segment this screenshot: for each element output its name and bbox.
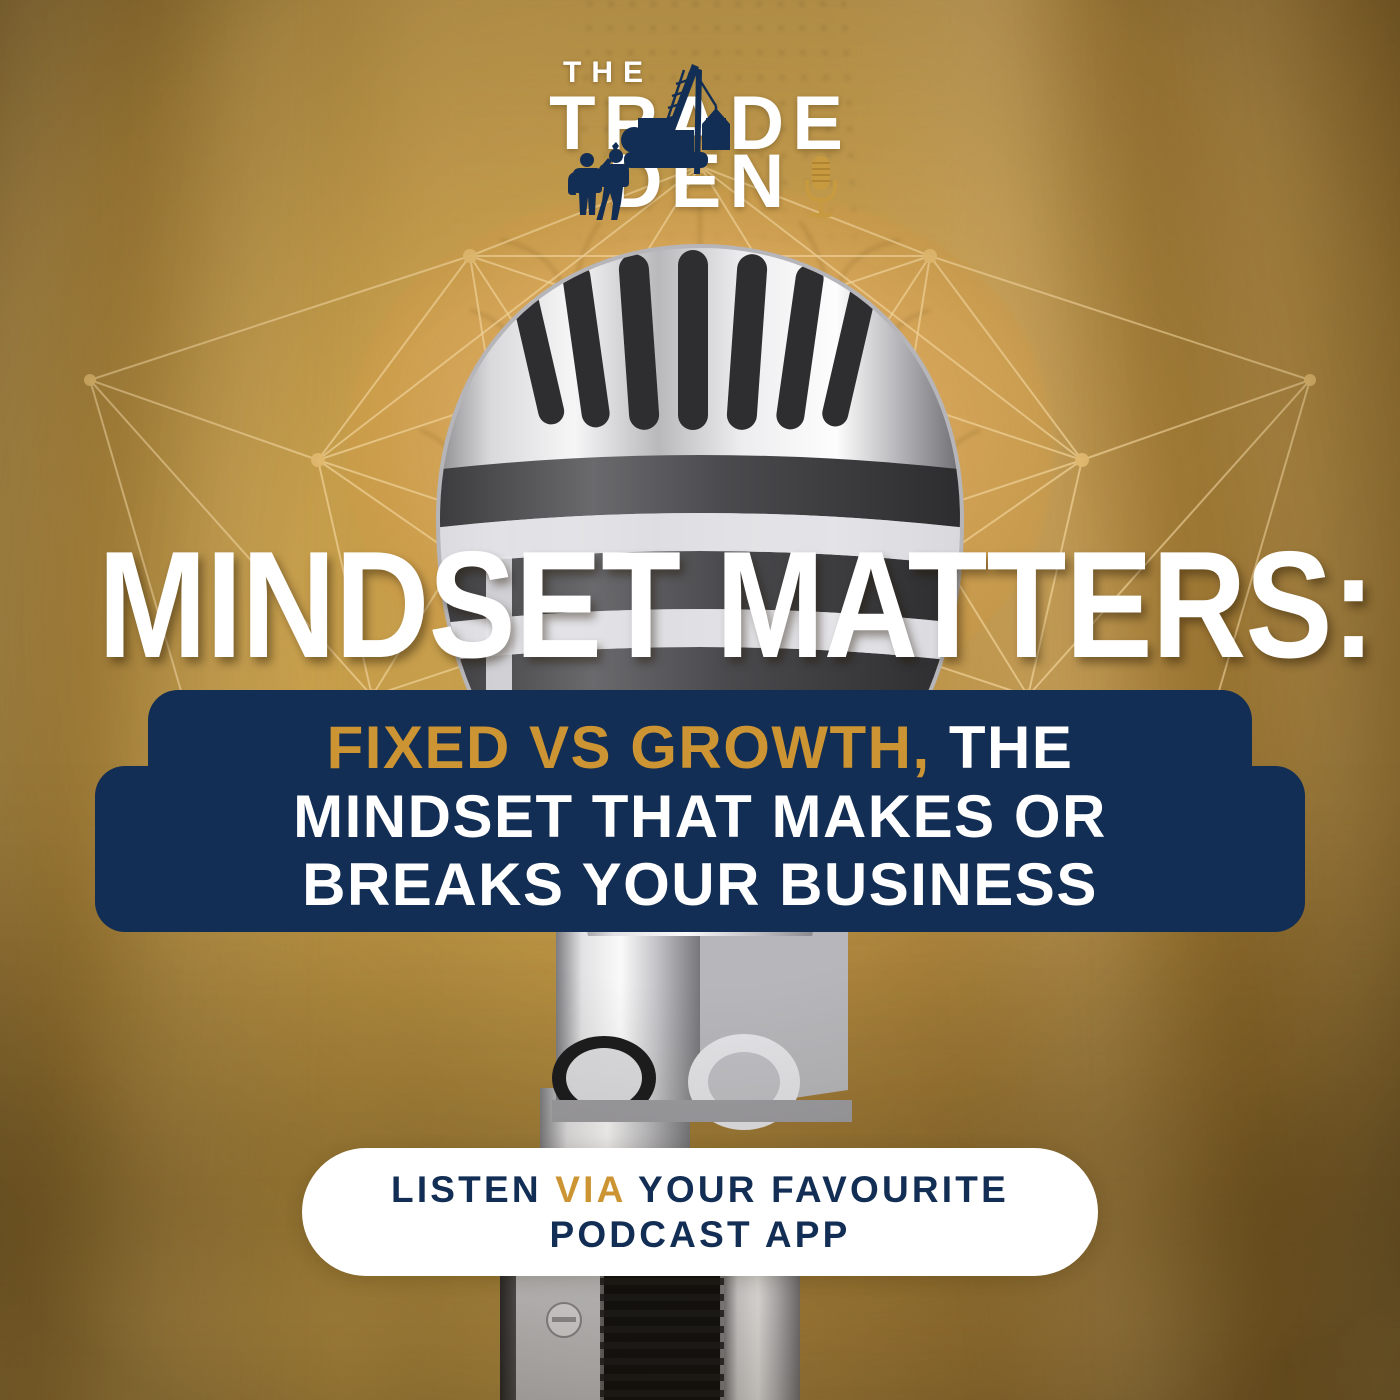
subtitle-line-1: FIXED VS GROWTH, THE bbox=[327, 714, 1074, 782]
cta-line-2: PODCAST APP bbox=[549, 1212, 850, 1257]
subtitle-text-group: FIXED VS GROWTH, THE MINDSET THAT MAKES … bbox=[0, 690, 1400, 940]
brand-logo: THE TRADE DEN bbox=[0, 58, 1400, 222]
episode-title: MINDSET MATTERS: bbox=[98, 536, 1302, 676]
cta-line-1-a: LISTEN bbox=[391, 1169, 555, 1210]
listen-cta-button[interactable]: LISTEN VIA YOUR FAVOURITE PODCAST APP bbox=[302, 1148, 1098, 1276]
tradespeople-icon bbox=[562, 142, 640, 220]
subtitle-line-2: MINDSET THAT MAKES OR bbox=[293, 783, 1107, 851]
subtitle-line-1-gold: FIXED VS GROWTH, bbox=[327, 714, 931, 781]
logo-wordmark: TRADE DEN bbox=[510, 90, 890, 222]
cta-line-1-b: YOUR FAVOURITE bbox=[625, 1169, 1009, 1210]
subtitle-plate: FIXED VS GROWTH, THE MINDSET THAT MAKES … bbox=[0, 690, 1400, 940]
cta-line-1-gold: VIA bbox=[555, 1169, 625, 1210]
podcast-cover: THE TRADE DEN bbox=[0, 0, 1400, 1400]
subtitle-line-3: BREAKS YOUR BUSINESS bbox=[302, 851, 1098, 919]
subtitle-line-1-white: THE bbox=[931, 714, 1074, 781]
microphone-icon bbox=[798, 152, 844, 220]
cta-line-1: LISTEN VIA YOUR FAVOURITE bbox=[391, 1167, 1009, 1212]
